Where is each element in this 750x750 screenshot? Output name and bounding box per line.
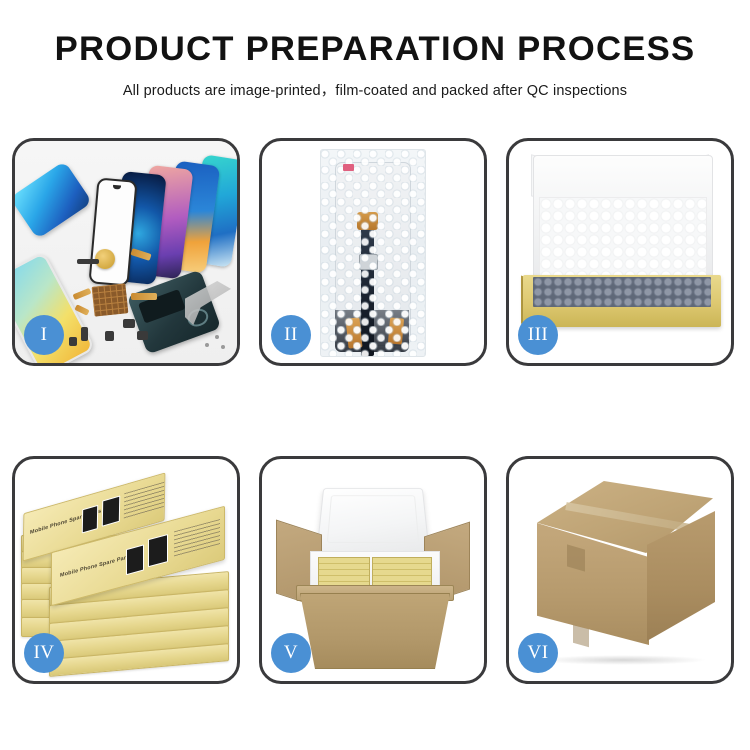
process-step-panel-4: Mobile Phone Spare Parts Mobile Phone Sp…: [12, 456, 240, 684]
bubble-wrapped-contents: [533, 277, 711, 307]
carton-body: [300, 593, 450, 669]
small-part: [105, 331, 114, 341]
page-subtitle: All products are image-printed，film-coat…: [0, 79, 750, 100]
foam-sheet: [539, 197, 707, 283]
step-badge-3: III: [518, 315, 558, 355]
screw-part: [215, 335, 219, 339]
screen-print-image: [148, 534, 168, 567]
box-spec-lines: [174, 519, 220, 557]
yellow-tray-box: [523, 275, 721, 327]
screen-print-image: [126, 544, 144, 575]
screw-part: [221, 345, 225, 349]
small-part: [77, 259, 99, 264]
process-step-grid: I II III: [12, 138, 738, 684]
pink-label-tab: [343, 164, 354, 171]
step-badge-2: II: [271, 315, 311, 355]
bubble-texture: [321, 150, 425, 356]
process-step-panel-6: VI: [506, 456, 734, 684]
small-part: [123, 319, 135, 328]
flex-cable-part: [131, 293, 157, 300]
process-step-panel-3: III: [506, 138, 734, 366]
process-step-panel-1: I: [12, 138, 240, 366]
page-title: PRODUCT PREPARATION PROCESS: [0, 32, 750, 68]
bubble-wrap-bag: [320, 149, 426, 357]
chip-array-component: [92, 283, 129, 316]
box-spec-lines: [124, 480, 166, 519]
process-step-panel-2: II: [259, 138, 487, 366]
screen-print-image: [102, 495, 120, 526]
small-part: [137, 331, 148, 340]
page-header: PRODUCT PREPARATION PROCESS All products…: [0, 0, 750, 100]
step-badge-6: VI: [518, 633, 558, 673]
screw-part: [205, 343, 209, 347]
carton-flap-tab-lower: [573, 625, 589, 648]
step-badge-1: I: [24, 315, 64, 355]
process-step-panel-5: V: [259, 456, 487, 684]
step-badge-4: IV: [24, 633, 64, 673]
step-badge-5: V: [271, 633, 311, 673]
screen-print-image: [82, 505, 98, 534]
box-label-text: Mobile Phone Spare Parts: [60, 554, 131, 579]
foam-lid: [316, 488, 429, 552]
small-part: [81, 327, 88, 341]
small-part: [69, 337, 77, 346]
carton-shadow: [539, 655, 707, 665]
